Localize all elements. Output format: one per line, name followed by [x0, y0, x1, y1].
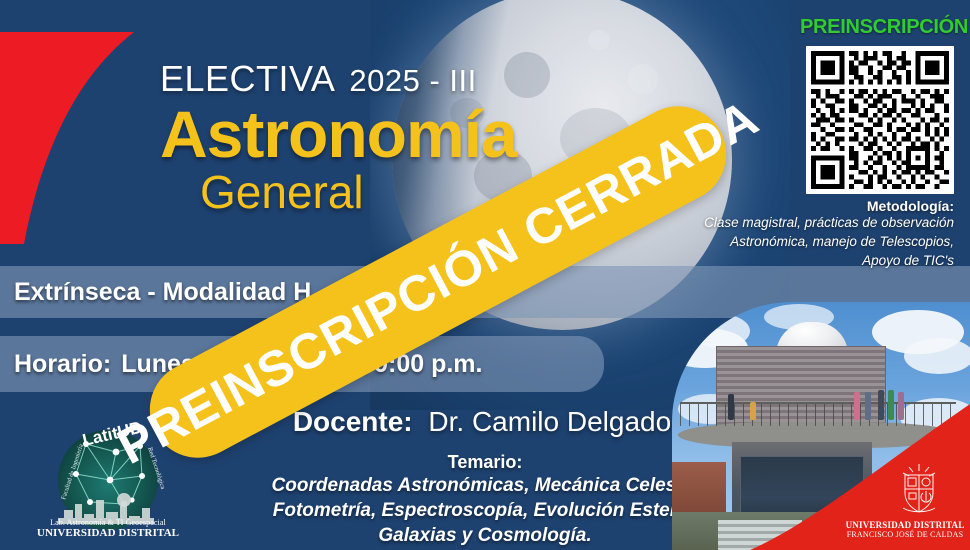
metodologia-heading: Metodología: — [668, 198, 954, 214]
docente-label: Docente: — [293, 406, 413, 437]
background-building — [672, 462, 726, 518]
metodologia-block: Metodología: Clase magistral, prácticas … — [668, 198, 962, 271]
course-title-main: Astronomía — [160, 102, 630, 167]
latitud-logo-name: Lab. Astronomía & TI Geoespacial UNIVERS… — [24, 518, 192, 539]
elective-row: ELECTIVA 2025 - III — [160, 58, 630, 100]
cloud — [904, 338, 970, 374]
latitud-org: UNIVERSIDAD DISTRITAL — [24, 527, 192, 539]
qr-code-icon[interactable] — [806, 46, 954, 194]
ud-crest-icon — [895, 463, 943, 515]
preinscripcion-label: PREINSCRIPCIÓN — [800, 16, 960, 39]
cloud — [690, 314, 750, 348]
latitud-subtitle: Lab. Astronomía & TI Geoespacial — [24, 518, 192, 527]
docente-line: Docente: Dr. Camilo Delgado — [222, 406, 742, 438]
metodologia-line: Clase magistral, prácticas de observació… — [668, 214, 954, 233]
modalidad-text: Extrínseca - Modalidad H — [14, 278, 311, 307]
metodologia-line: Apoyo de TIC's — [668, 252, 954, 271]
docente-value: Dr. Camilo Delgado — [428, 406, 671, 437]
visitor — [728, 394, 734, 420]
year-term-label: 2025 - III — [349, 63, 476, 99]
ud-logo-name: UNIVERSIDAD DISTRITAL FRANCISCO JOSÉ DE … — [843, 520, 967, 539]
elective-label: ELECTIVA — [160, 58, 335, 100]
ud-name-line2: FRANCISCO JOSÉ DE CALDAS — [843, 530, 967, 539]
poster-root: ELECTIVA 2025 - III Astronomía General E… — [0, 0, 970, 550]
horario-label: Horario: — [14, 350, 111, 379]
metodologia-line: Astronómica, manejo de Telescopios, — [668, 233, 954, 252]
ud-name-line1: UNIVERSIDAD DISTRITAL — [843, 520, 967, 530]
red-swoosh-decoration — [0, 32, 142, 244]
